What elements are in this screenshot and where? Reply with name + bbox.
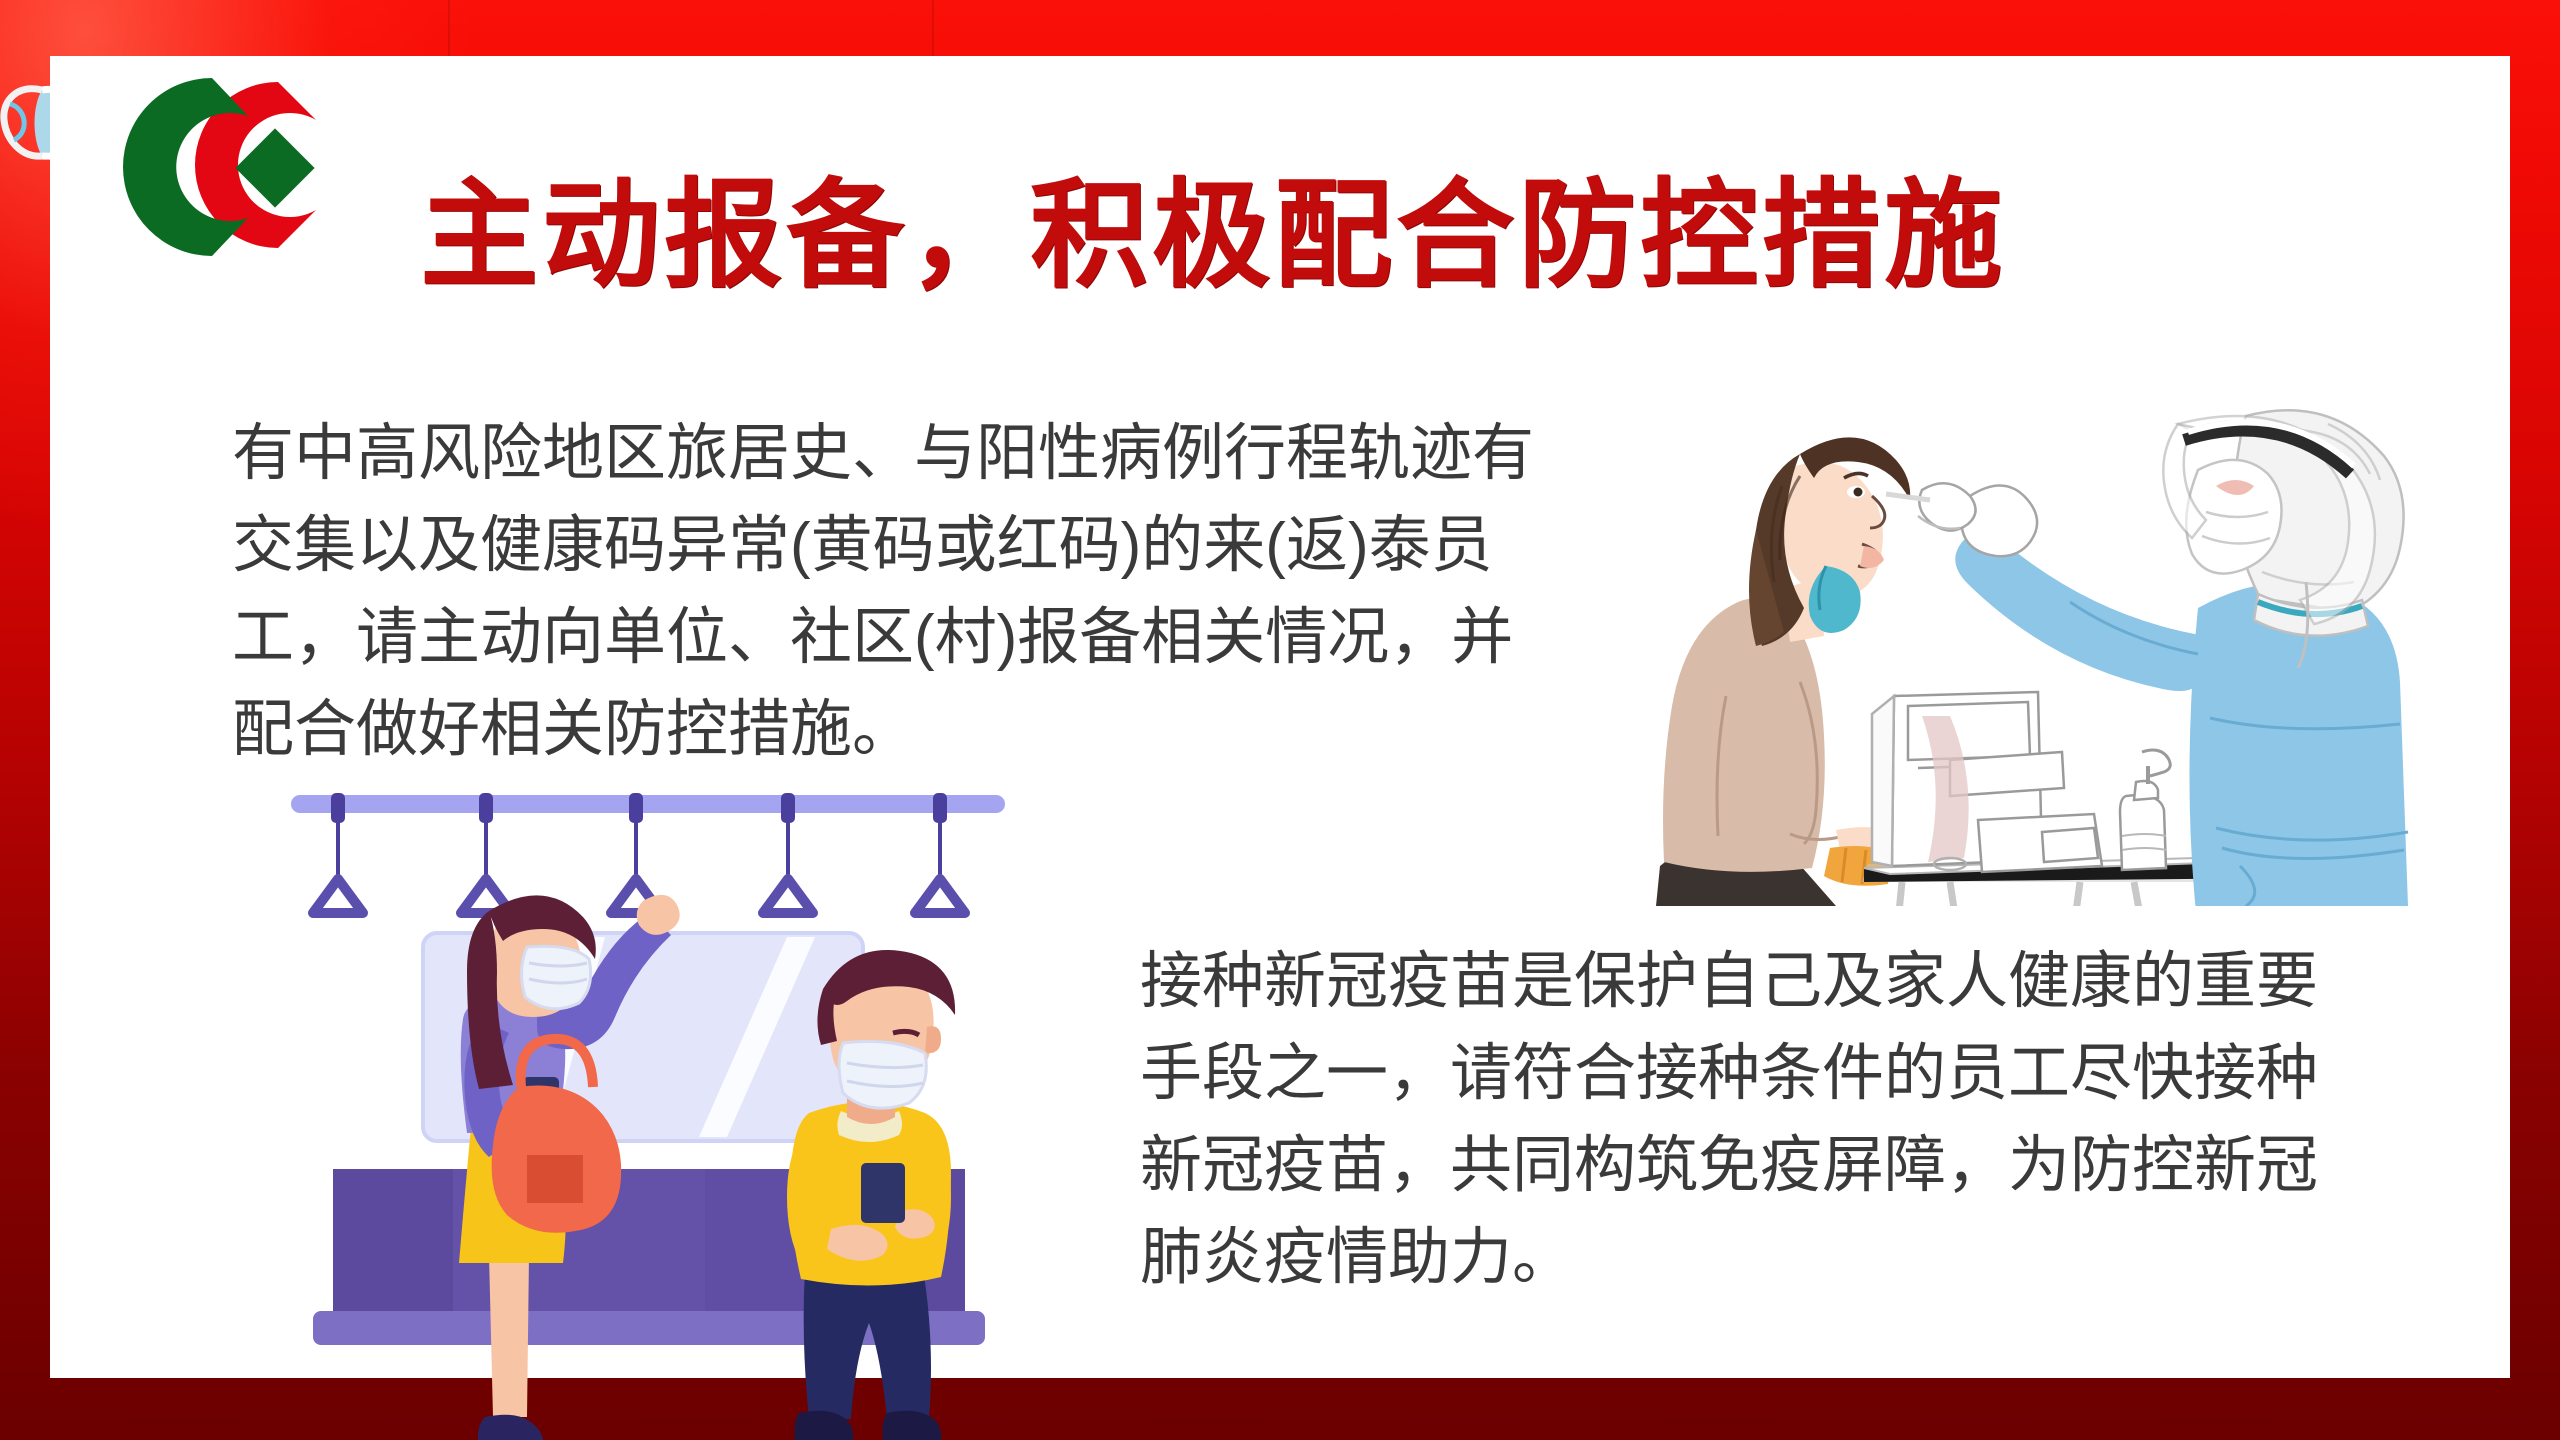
white-content-card: 主动报备，积极配合防控措施 有中高风险地区旅居史、与阳性病例行程轨迹有 交集以及… [50, 56, 2510, 1378]
paragraph-vaccination: 接种新冠疫苗是保护自己及家人健康的重要 手段之一，请符合接种条件的员工尽快接种 … [1140, 936, 2410, 1304]
paragraph-2-line-4: 肺炎疫情助力。 [1140, 1212, 2410, 1304]
phone [861, 1163, 905, 1223]
poster-slide: 主动报备，积极配合防控措施 有中高风险地区旅居史、与阳性病例行程轨迹有 交集以及… [0, 0, 2560, 1440]
overhead-rail [291, 795, 1005, 813]
paragraph-1-line-1: 有中高风险地区旅居史、与阳性病例行程轨迹有 [232, 408, 1622, 500]
paragraph-2-line-2: 手段之一，请符合接种条件的员工尽快接种 [1140, 1028, 2410, 1120]
paragraph-2-line-1: 接种新冠疫苗是保护自己及家人健康的重要 [1140, 936, 2410, 1028]
poster-title: 主动报备，积极配合防控措施 [420, 166, 2410, 306]
public-transport-illustration [275, 781, 1020, 1440]
paragraph-2-line-3: 新冠疫苗，共同构筑免疫屏障，为防控新冠 [1140, 1120, 2410, 1212]
double-c-logo [110, 74, 348, 264]
paragraph-1-line-2: 交集以及健康码异常(黄码或红码)的来(返)泰员 [232, 500, 1622, 592]
paragraph-report-requirement: 有中高风险地区旅居史、与阳性病例行程轨迹有 交集以及健康码异常(黄码或红码)的来… [232, 408, 1622, 776]
paragraph-1-line-4: 配合做好相关防控措施。 [232, 684, 1622, 776]
paragraph-1-line-3: 工，请主动向单位、社区(村)报备相关情况，并 [232, 592, 1622, 684]
nucleic-acid-test-illustration [1650, 396, 2410, 906]
